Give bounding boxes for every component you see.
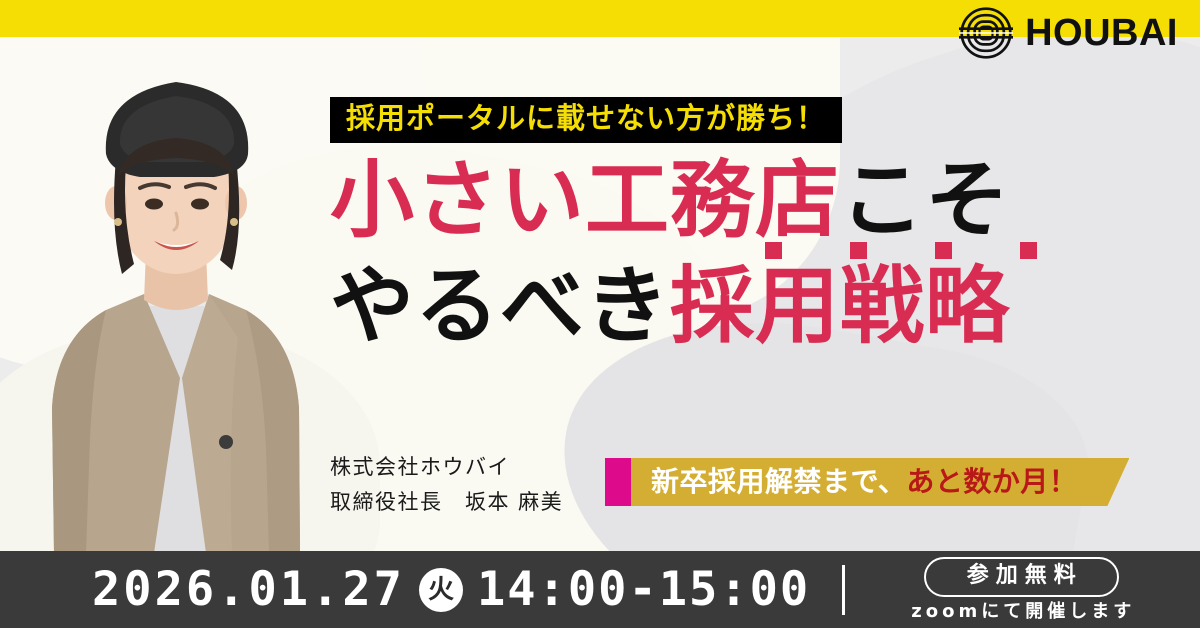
emphasis-dot bbox=[765, 242, 782, 259]
concentric-rings-icon bbox=[959, 6, 1013, 60]
headline-line1-accent: 小さい工務店 bbox=[330, 151, 840, 249]
event-datetime: 2026.01.27 火 14:00-15:00 bbox=[92, 566, 810, 613]
ribbon-body: 新卒採用解禁まで、あと数か月！ bbox=[631, 458, 1129, 506]
attendance-info: 参加無料 zoomにて開催します bbox=[907, 557, 1135, 621]
footer-bar: 2026.01.27 火 14:00-15:00 参加無料 zoomにて開催しま… bbox=[0, 551, 1200, 628]
emphasis-dot bbox=[1020, 242, 1037, 259]
eyebrow-text: 採用ポータルに載せない方が勝ち！ bbox=[346, 102, 826, 135]
emphasis-dot bbox=[935, 242, 952, 259]
event-time: 14:00-15:00 bbox=[477, 566, 810, 613]
ribbon-lead-text: 新卒採用解禁まで、 bbox=[651, 468, 906, 496]
footer-divider bbox=[842, 565, 845, 615]
headline-line-1: 小さい工務店こそ bbox=[330, 158, 1190, 242]
ribbon-highlight-text: あと数か月！ bbox=[906, 468, 1077, 496]
headline-line2-accent: 採用戦略 bbox=[670, 257, 1010, 355]
speaker-company: 株式会社ホウバイ bbox=[330, 450, 563, 485]
speaker-info: 株式会社ホウバイ 取締役社長 坂本 麻美 bbox=[330, 450, 563, 519]
deadline-ribbon: 新卒採用解禁まで、あと数か月！ bbox=[605, 458, 1129, 506]
headline-line-2: やるべき採用戦略 bbox=[330, 264, 1190, 348]
brand-logo: HOUBAI bbox=[959, 6, 1178, 60]
headline: 小さい工務店こそ やるべき採用戦略 bbox=[330, 158, 1190, 348]
emphasis-dots bbox=[765, 242, 1037, 259]
weekday-badge: 火 bbox=[419, 568, 463, 612]
webinar-banner: HOUBAI bbox=[0, 0, 1200, 628]
ribbon-accent-tab bbox=[605, 458, 631, 506]
event-date: 2026.01.27 bbox=[92, 566, 405, 613]
speaker-title-name: 取締役社長 坂本 麻美 bbox=[330, 485, 563, 520]
speaker-portrait bbox=[0, 38, 344, 553]
brand-name: HOUBAI bbox=[1025, 6, 1178, 60]
eyebrow-banner: 採用ポータルに載せない方が勝ち！ bbox=[330, 97, 842, 143]
headline-line1-dark: こそ bbox=[840, 151, 1010, 249]
free-admission-badge: 参加無料 bbox=[924, 557, 1119, 596]
headline-line2-dark: やるべき bbox=[330, 257, 670, 355]
platform-note: zoomにて開催します bbox=[907, 602, 1135, 622]
emphasis-dot bbox=[850, 242, 867, 259]
